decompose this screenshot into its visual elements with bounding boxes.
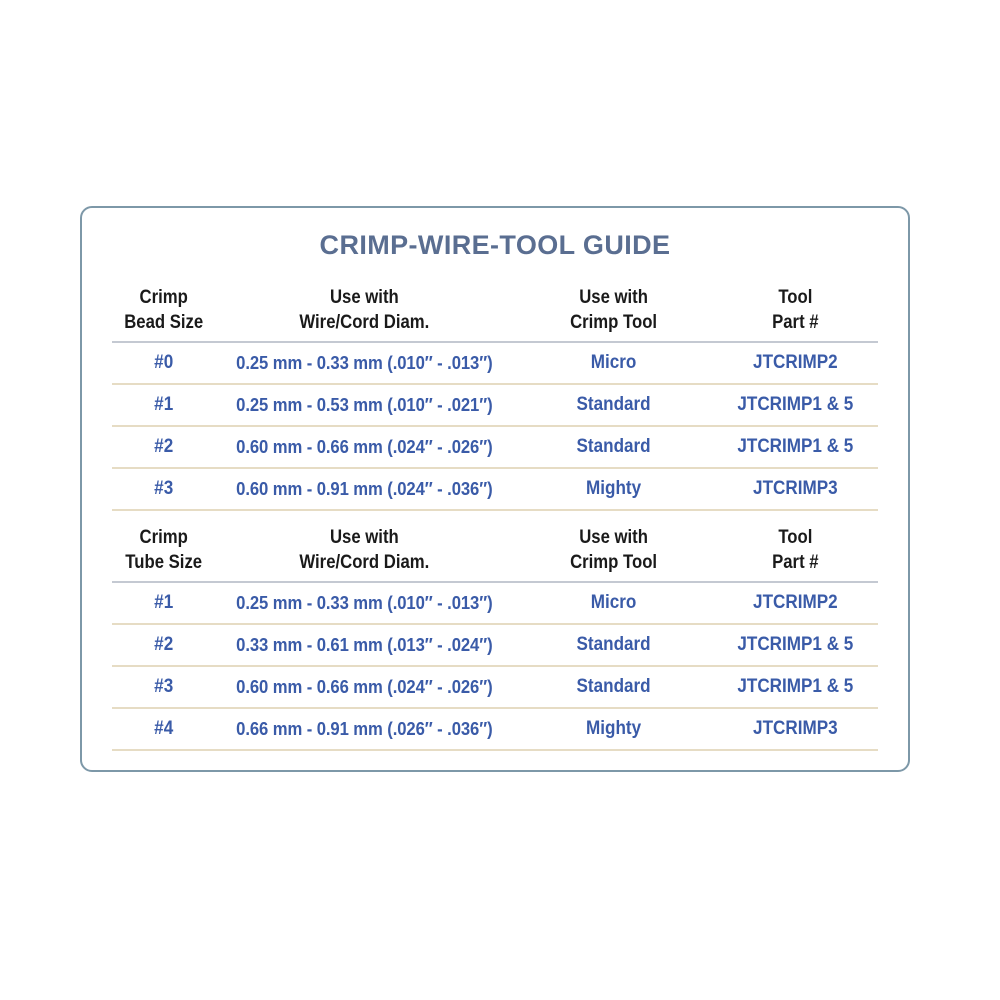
cell-tool-part-number: JTCRIMP1 & 5: [722, 394, 870, 416]
cell-tool-part-number: JTCRIMP3: [722, 718, 870, 740]
table-row: #4 0.66 mm - 0.91 mm (.026″ - .036″) Mig…: [112, 709, 878, 749]
table-header-row: Crimp Tube Size Use with Wire/Cord Diam.…: [112, 525, 878, 581]
cell-wire-diameter: 0.33 mm - 0.61 mm (.013″ - .024″): [230, 634, 499, 656]
table-row: #1 0.25 mm - 0.33 mm (.010″ - .013″) Mic…: [112, 583, 878, 623]
cell-wire-diameter: 0.25 mm - 0.33 mm (.010″ - .013″): [230, 352, 499, 374]
cell-wire-diameter: 0.60 mm - 0.91 mm (.024″ - .036″): [230, 478, 499, 500]
header-line-1: Use with: [233, 525, 496, 550]
cell-bead-size: #2: [117, 436, 210, 458]
cell-wire-diameter: 0.60 mm - 0.66 mm (.024″ - .026″): [230, 676, 499, 698]
header-line-2: Part #: [723, 550, 868, 575]
cell-bead-size: #0: [117, 352, 210, 374]
table-row: #2 0.60 mm - 0.66 mm (.024″ - .026″) Sta…: [112, 427, 878, 467]
cell-crimp-tool: Standard: [524, 436, 703, 458]
cell-crimp-tool: Mighty: [524, 718, 703, 740]
column-header-crimp-tube-size: Crimp Tube Size: [118, 525, 209, 575]
cell-crimp-tool: Standard: [524, 676, 703, 698]
cell-crimp-tool: Standard: [524, 394, 703, 416]
page-root: CRIMP-WIRE-TOOL GUIDE Crimp Bead Size Us…: [0, 0, 1000, 1000]
cell-tube-size: #1: [117, 592, 210, 614]
header-line-1: Use with: [526, 285, 701, 310]
cell-tool-part-number: JTCRIMP1 & 5: [722, 634, 870, 656]
header-line-2: Wire/Cord Diam.: [233, 550, 496, 575]
crimp-tube-table: Crimp Tube Size Use with Wire/Cord Diam.…: [112, 525, 878, 751]
header-line-1: Crimp: [118, 525, 209, 550]
header-line-2: Crimp Tool: [526, 310, 701, 335]
cell-wire-diameter: 0.66 mm - 0.91 mm (.026″ - .036″): [230, 718, 499, 740]
row-divider: [112, 509, 878, 511]
cell-tube-size: #2: [117, 634, 210, 656]
row-divider: [112, 749, 878, 751]
column-header-wire-cord-diam: Use with Wire/Cord Diam.: [233, 285, 496, 335]
cell-tool-part-number: JTCRIMP3: [722, 478, 870, 500]
cell-crimp-tool: Micro: [524, 592, 703, 614]
header-line-2: Part #: [723, 310, 868, 335]
crimp-bead-table: Crimp Bead Size Use with Wire/Cord Diam.…: [112, 285, 878, 511]
table-row: #3 0.60 mm - 0.66 mm (.024″ - .026″) Sta…: [112, 667, 878, 707]
table-row: #2 0.33 mm - 0.61 mm (.013″ - .024″) Sta…: [112, 625, 878, 665]
cell-bead-size: #1: [117, 394, 210, 416]
cell-wire-diameter: 0.25 mm - 0.33 mm (.010″ - .013″): [230, 592, 499, 614]
cell-crimp-tool: Mighty: [524, 478, 703, 500]
header-line-1: Tool: [723, 285, 868, 310]
column-header-crimp-bead-size: Crimp Bead Size: [118, 285, 209, 335]
column-header-tool-part-number: Tool Part #: [723, 525, 868, 575]
column-header-crimp-tool: Use with Crimp Tool: [526, 285, 701, 335]
table-header-row: Crimp Bead Size Use with Wire/Cord Diam.…: [112, 285, 878, 341]
cell-tool-part-number: JTCRIMP1 & 5: [722, 436, 870, 458]
cell-tube-size: #4: [117, 718, 210, 740]
header-line-2: Wire/Cord Diam.: [233, 310, 496, 335]
cell-wire-diameter: 0.60 mm - 0.66 mm (.024″ - .026″): [230, 436, 499, 458]
header-line-1: Use with: [233, 285, 496, 310]
cell-tool-part-number: JTCRIMP1 & 5: [722, 676, 870, 698]
cell-tool-part-number: JTCRIMP2: [722, 592, 870, 614]
cell-tool-part-number: JTCRIMP2: [722, 352, 870, 374]
cell-crimp-tool: Micro: [524, 352, 703, 374]
header-line-1: Use with: [526, 525, 701, 550]
cell-tube-size: #3: [117, 676, 210, 698]
table-row: #1 0.25 mm - 0.53 mm (.010″ - .021″) Sta…: [112, 385, 878, 425]
cell-bead-size: #3: [117, 478, 210, 500]
column-header-crimp-tool: Use with Crimp Tool: [526, 525, 701, 575]
cell-wire-diameter: 0.25 mm - 0.53 mm (.010″ - .021″): [230, 394, 499, 416]
page-title: CRIMP-WIRE-TOOL GUIDE: [82, 208, 908, 261]
table-row: #3 0.60 mm - 0.91 mm (.024″ - .036″) Mig…: [112, 469, 878, 509]
table-row: #0 0.25 mm - 0.33 mm (.010″ - .013″) Mic…: [112, 343, 878, 383]
crimp-guide-card: CRIMP-WIRE-TOOL GUIDE Crimp Bead Size Us…: [80, 206, 910, 772]
header-line-1: Tool: [723, 525, 868, 550]
header-line-2: Tube Size: [118, 550, 209, 575]
column-header-tool-part-number: Tool Part #: [723, 285, 868, 335]
header-line-1: Crimp: [118, 285, 209, 310]
cell-crimp-tool: Standard: [524, 634, 703, 656]
column-header-wire-cord-diam: Use with Wire/Cord Diam.: [233, 525, 496, 575]
header-line-2: Bead Size: [118, 310, 209, 335]
header-line-2: Crimp Tool: [526, 550, 701, 575]
